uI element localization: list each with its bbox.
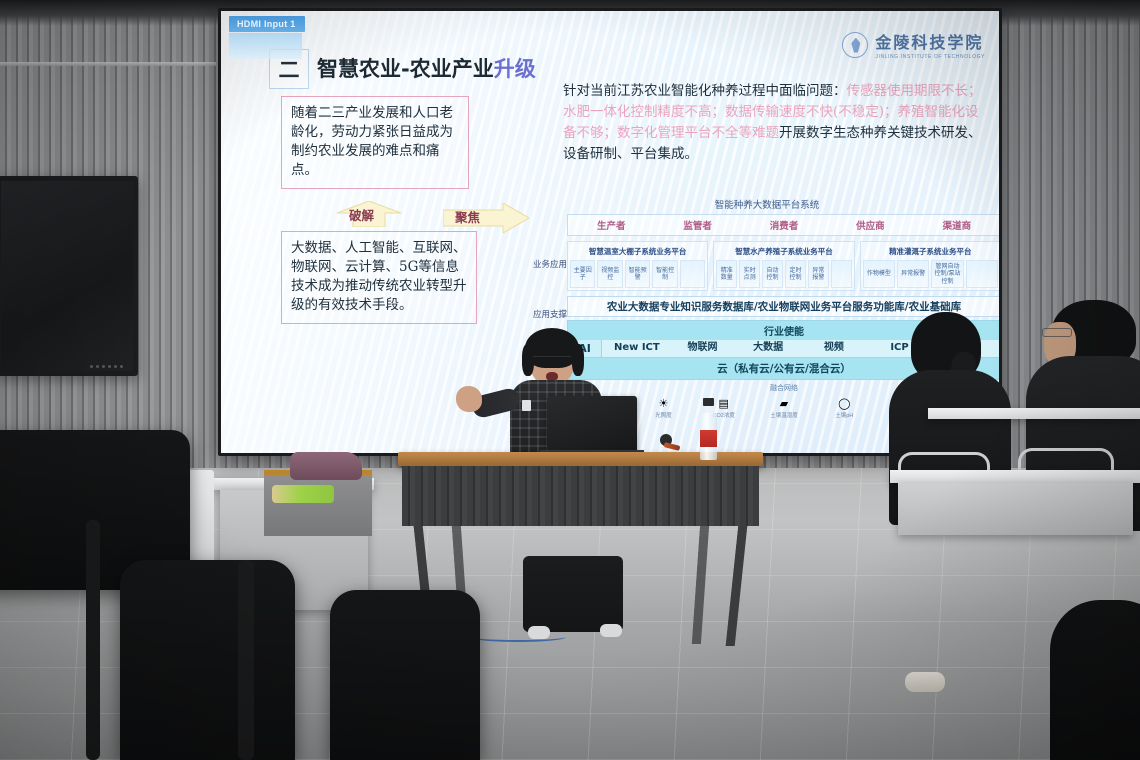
right-desk-front-body (898, 483, 1133, 535)
student-shoe (905, 672, 945, 692)
slide-title-accent: 升级 (494, 57, 536, 81)
side-label-app-support: 应用支撑 (533, 310, 567, 320)
student-foreground (1050, 600, 1140, 760)
side-label-business-apps: 业务应用 (533, 260, 567, 270)
subsystem-greenhouse-title: 智慧温室大棚子系统业务平台 (570, 244, 705, 260)
right-desk-back-top (928, 408, 1140, 419)
laptop[interactable] (547, 396, 637, 454)
diagram-subsystems-row: 智慧温室大棚子系统业务平台 主要因子 视频监控 智能预警 智能控制 (567, 241, 999, 291)
cell-irr-1: 异常报警 (897, 260, 929, 288)
cell-aqua-5 (831, 260, 852, 288)
cell-irr-3 (966, 260, 998, 288)
subsystem-aquaculture: 智慧水产养殖子系统业务平台 精准数量 实时点测 自动控制 定时控制 异常报警 (713, 241, 854, 291)
role-producer: 生产者 (568, 218, 654, 232)
foreground-chair-b (120, 560, 295, 760)
university-crest-icon (842, 32, 868, 58)
classroom-scene: HDMI Input 1 二 智慧农业-农业产业升级 金陵科技学院 JINLIN… (0, 0, 1140, 760)
cell-aqua-3: 定时控制 (785, 260, 806, 288)
soil-icon: ▰ (754, 397, 814, 410)
handbag (290, 452, 362, 480)
paragraph-lead: 针对当前江苏农业智能化种养过程中面临问题： (563, 83, 847, 99)
bottle-label (700, 430, 717, 447)
wall-display-buttons[interactable] (90, 365, 123, 368)
university-name: 金陵科技学院 JINLING INSTITUTE OF TECHNOLOGY (875, 29, 985, 60)
wall-display[interactable] (0, 176, 138, 376)
presenter-hand (456, 386, 482, 412)
bottle-neck (705, 406, 713, 413)
foreground-chair-c (330, 590, 480, 760)
presenter-hair-right (572, 344, 584, 376)
chair-post-b (86, 520, 100, 760)
subsystem-greenhouse: 智慧温室大棚子系统业务平台 主要因子 视频监控 智能预警 智能控制 (567, 241, 708, 291)
cell-irr-0: 作物模型 (863, 260, 895, 288)
presenter-badge (522, 400, 531, 411)
slide-textbox-technologies: 大数据、人工智能、互联网、物联网、云计算、5G等信息技术成为推动传统农业转型升级… (281, 231, 477, 324)
cell-aqua-0: 精准数量 (716, 260, 737, 288)
floor-cable (470, 632, 566, 642)
chair-post-a (238, 560, 254, 760)
diagram-roles-row: 生产者 监管者 消费者 供应商 渠道商 (567, 214, 999, 236)
cell-aqua-2: 自动控制 (762, 260, 783, 288)
wall-display-screen (1, 181, 133, 371)
slide-title-main: 智慧农业-农业产业 (317, 57, 494, 81)
ph-icon: ◯ (814, 397, 874, 410)
wall-seam (0, 62, 216, 66)
tech-video: 视频 (801, 343, 867, 354)
cell-greenhouse-3: 智能控制 (652, 260, 677, 288)
cell-greenhouse-2: 智能预警 (625, 260, 650, 288)
bottle-cap (703, 398, 714, 406)
desk-leg-right (726, 526, 748, 646)
diagram-title: 智能种养大数据平台系统 (533, 197, 999, 211)
slide-title: 智慧农业-农业产业升级 (317, 53, 536, 83)
cell-irr-2: 管网自动控制/泵站控制 (931, 260, 963, 288)
tech-bigdata: 大数据 (735, 343, 801, 354)
sensor-soil: ▰ 土壤温湿度 (754, 397, 814, 419)
hdmi-badge-tail (229, 33, 302, 59)
sensor-light-label: 光照度 (633, 411, 693, 419)
sensor-ph: ◯ 土壤pH (814, 397, 874, 419)
cell-aqua-4: 异常报警 (808, 260, 829, 288)
leafy-vegetables (272, 485, 334, 503)
subsystem-aquaculture-title: 智慧水产养殖子系统业务平台 (716, 244, 851, 260)
role-consumer: 消费者 (741, 218, 827, 232)
hdmi-input-badge: HDMI Input 1 (229, 16, 305, 32)
sensor-soil-label: 土壤温湿度 (754, 411, 814, 419)
role-channel: 渠道商 (914, 218, 999, 232)
arrow-right-label: 聚焦 (455, 207, 480, 226)
right-desk-front-top (890, 470, 1140, 483)
sensor-ph-label: 土壤pH (814, 411, 874, 419)
presenter-glasses (533, 356, 571, 364)
student-right-glasses (1042, 328, 1072, 337)
subsystem-irrigation: 精准灌溉子系统业务平台 作物模型 异常报警 管网自动控制/泵站控制 (860, 241, 999, 291)
cell-greenhouse-4 (680, 260, 705, 288)
university-name-en: JINLING INSTITUTE OF TECHNOLOGY (875, 54, 985, 60)
arrow-up-label: 破解 (349, 205, 374, 224)
slide-textbox-pain-points: 随着二三产业发展和人口老龄化，劳动力紧张日益成为制约农业发展的难点和痛点。 (281, 96, 469, 189)
desk-leg-right-inner (692, 526, 709, 644)
sun-icon: ☀ (633, 397, 693, 410)
sensor-light: ☀ 光照度 (633, 397, 693, 419)
water-bottle[interactable] (700, 398, 717, 460)
university-logo: 金陵科技学院 JINLING INSTITUTE OF TECHNOLOGY (842, 29, 985, 60)
cell-aqua-1: 实时点测 (739, 260, 760, 288)
cell-greenhouse-1: 视频监控 (597, 260, 622, 288)
university-name-cn: 金陵科技学院 (875, 33, 983, 52)
cell-greenhouse-0: 主要因子 (570, 260, 595, 288)
slide-paragraph: 针对当前江苏农业智能化种养过程中面临问题：传感器使用期限不长；水肥一体化控制精度… (563, 81, 991, 165)
role-supplier: 供应商 (827, 218, 913, 232)
role-regulator: 监管者 (654, 218, 740, 232)
subsystem-irrigation-title: 精准灌溉子系统业务平台 (863, 244, 998, 260)
tech-iot: 物联网 (670, 343, 736, 354)
